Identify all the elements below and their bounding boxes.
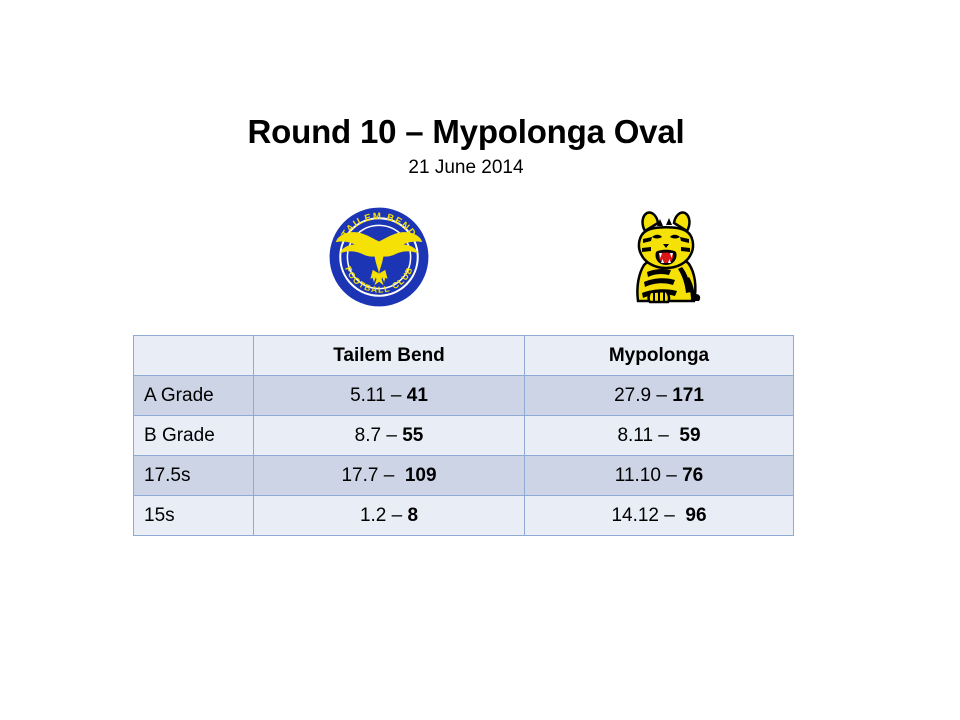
score-figure: 17.7 –: [341, 465, 404, 486]
table-row: A Grade 5.11 – 41 27.9 – 171: [134, 376, 794, 416]
table-row: 17.5s 17.7 – 109 11.10 – 76: [134, 456, 794, 496]
score-figure: 14.12 –: [611, 505, 685, 526]
cell-tailem-bend-score: 1.2 – 8: [254, 496, 525, 536]
table-row: B Grade 8.7 – 55 8.11 – 59: [134, 416, 794, 456]
logo-row: TAILEM BEND FOOTBALL CLUB: [0, 198, 960, 323]
table-row: 15s 1.2 – 8 14.12 – 96: [134, 496, 794, 536]
column-header-tailem-bend: Tailem Bend: [254, 336, 525, 376]
cell-grade: 15s: [134, 496, 254, 536]
score-total: 59: [679, 425, 700, 446]
score-table: Tailem Bend Mypolonga A Grade 5.11 – 41 …: [133, 335, 794, 536]
score-figure: 8.11 –: [617, 425, 679, 446]
cell-grade: B Grade: [134, 416, 254, 456]
cell-tailem-bend-score: 5.11 – 41: [254, 376, 525, 416]
tailem-bend-football-club-logo: TAILEM BEND FOOTBALL CLUB: [328, 204, 430, 310]
cell-mypolonga-score: 27.9 – 171: [525, 376, 794, 416]
column-header-grade: [134, 336, 254, 376]
cell-mypolonga-score: 11.10 – 76: [525, 456, 794, 496]
score-total: 55: [402, 425, 423, 446]
table-body: A Grade 5.11 – 41 27.9 – 171 B Grade 8.7…: [134, 376, 794, 536]
cell-mypolonga-score: 14.12 – 96: [525, 496, 794, 536]
table-header-row: Tailem Bend Mypolonga: [134, 336, 794, 376]
cell-mypolonga-score: 8.11 – 59: [525, 416, 794, 456]
table-header: Tailem Bend Mypolonga: [134, 336, 794, 376]
score-total: 41: [407, 385, 428, 406]
score-total: 109: [405, 465, 437, 486]
score-figure: 5.11 –: [350, 385, 407, 406]
score-total: 96: [685, 505, 706, 526]
score-figure: 8.7 –: [355, 425, 403, 446]
score-figure: 11.10 –: [615, 465, 682, 486]
page-title: Round 10 – Mypolonga Oval: [166, 112, 766, 152]
score-figure: 27.9 –: [614, 385, 672, 406]
slide-canvas: Round 10 – Mypolonga Oval 21 June 2014: [0, 0, 960, 720]
score-total: 171: [672, 385, 704, 406]
score-figure: 1.2 –: [360, 505, 408, 526]
score-total: 8: [407, 505, 418, 526]
cell-grade: 17.5s: [134, 456, 254, 496]
cell-tailem-bend-score: 17.7 – 109: [254, 456, 525, 496]
cell-grade: A Grade: [134, 376, 254, 416]
title-block: Round 10 – Mypolonga Oval 21 June 2014: [166, 112, 766, 181]
column-header-mypolonga: Mypolonga: [525, 336, 794, 376]
score-total: 76: [682, 465, 703, 486]
cell-tailem-bend-score: 8.7 – 55: [254, 416, 525, 456]
mypolonga-football-club-logo: [626, 202, 706, 314]
page-subtitle: 21 June 2014: [166, 155, 766, 181]
